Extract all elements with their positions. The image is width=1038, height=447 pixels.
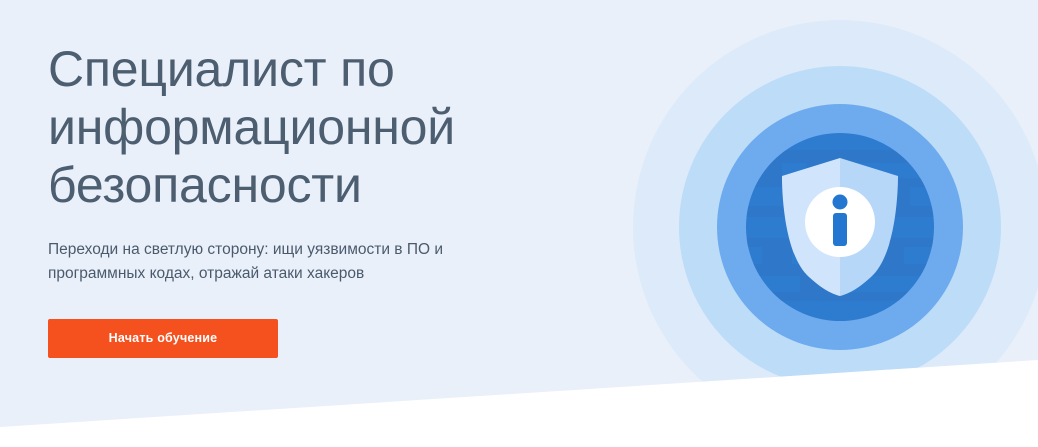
- ring-third: [717, 104, 963, 350]
- badge-circle: [805, 187, 875, 257]
- ring-outer: [633, 20, 1038, 434]
- rings-above-wedge: [633, 20, 1038, 434]
- ring-second: [679, 66, 1001, 388]
- rings-below-wedge: [633, 20, 1038, 434]
- shield-icon: [770, 150, 910, 310]
- start-learning-button[interactable]: Начать обучение: [48, 319, 278, 358]
- circuit-pattern: [746, 150, 936, 301]
- page-title: Специалист по информационной безопасност…: [48, 40, 608, 214]
- info-stem: [833, 213, 847, 246]
- hero-banner: Специалист по информационной безопасност…: [0, 0, 1038, 447]
- ring-inner: [746, 133, 934, 321]
- shield-left-half: [770, 150, 840, 310]
- shield-right-half: [840, 150, 910, 310]
- hero-content: Специалист по информационной безопасност…: [48, 40, 608, 358]
- info-dot: [833, 195, 848, 210]
- hero-subtitle: Переходи на светлую сторону: ищи уязвимо…: [48, 238, 548, 286]
